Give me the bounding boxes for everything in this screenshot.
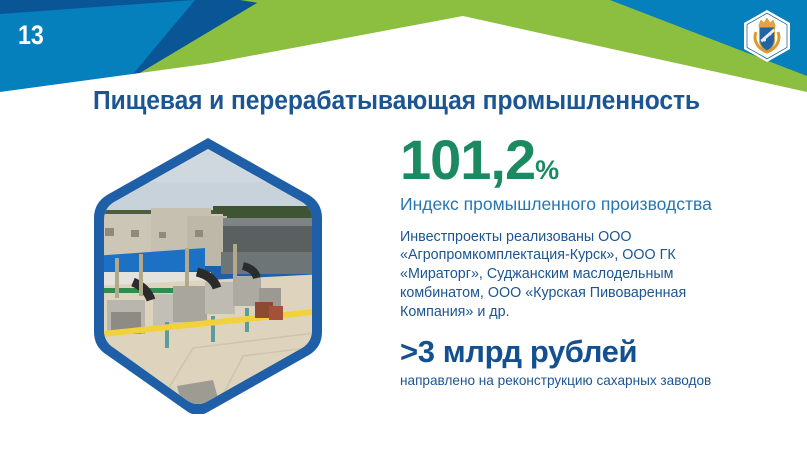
photo-pole-1 <box>115 258 119 298</box>
investment-projects-text: Инвестпроекты реализованы ООО «Агропромк… <box>400 228 700 322</box>
photo-machine-5 <box>233 276 261 306</box>
photo-vent-1 <box>105 228 114 236</box>
photo-vent-3 <box>159 232 166 238</box>
emblem-star-2 <box>769 33 772 36</box>
photo-treeline-right <box>213 206 323 220</box>
slide: 13 Пищевая и перерабатывающая промышленн… <box>0 0 807 454</box>
index-value-number: 101,2 <box>400 128 535 191</box>
investment-amount-value: >3 млрд рублей <box>400 336 770 367</box>
photo-dark-hall-top <box>223 218 323 226</box>
photo-vent-2 <box>131 230 139 237</box>
index-value-unit: % <box>535 155 559 185</box>
emblem-crown-base <box>759 25 776 27</box>
stats-column: 101,2% Индекс промышленного производства… <box>400 132 770 390</box>
photo-crate-2 <box>269 306 283 320</box>
industrial-index-label: Индекс промышленного производства <box>400 195 770 215</box>
photo-vent-4 <box>195 230 203 237</box>
photo-hexagon-graphic <box>93 136 323 414</box>
photo-machine-3 <box>173 286 207 322</box>
header-graphic <box>0 0 807 92</box>
photo-pole-3 <box>185 248 189 288</box>
emblem-star-1 <box>763 39 766 42</box>
page-title: Пищевая и перерабатывающая промышленност… <box>93 87 730 116</box>
header-banner: 13 <box>0 0 807 92</box>
photo-hexagon <box>93 136 323 414</box>
photo-pole-2 <box>139 254 143 296</box>
page-number: 13 <box>18 22 44 49</box>
investment-amount-caption: направлено на реконструкцию сахарных зав… <box>400 373 770 389</box>
industrial-index-value: 101,2% <box>400 132 770 188</box>
photo-pole-4 <box>233 244 237 282</box>
coat-of-arms-icon <box>744 10 790 62</box>
